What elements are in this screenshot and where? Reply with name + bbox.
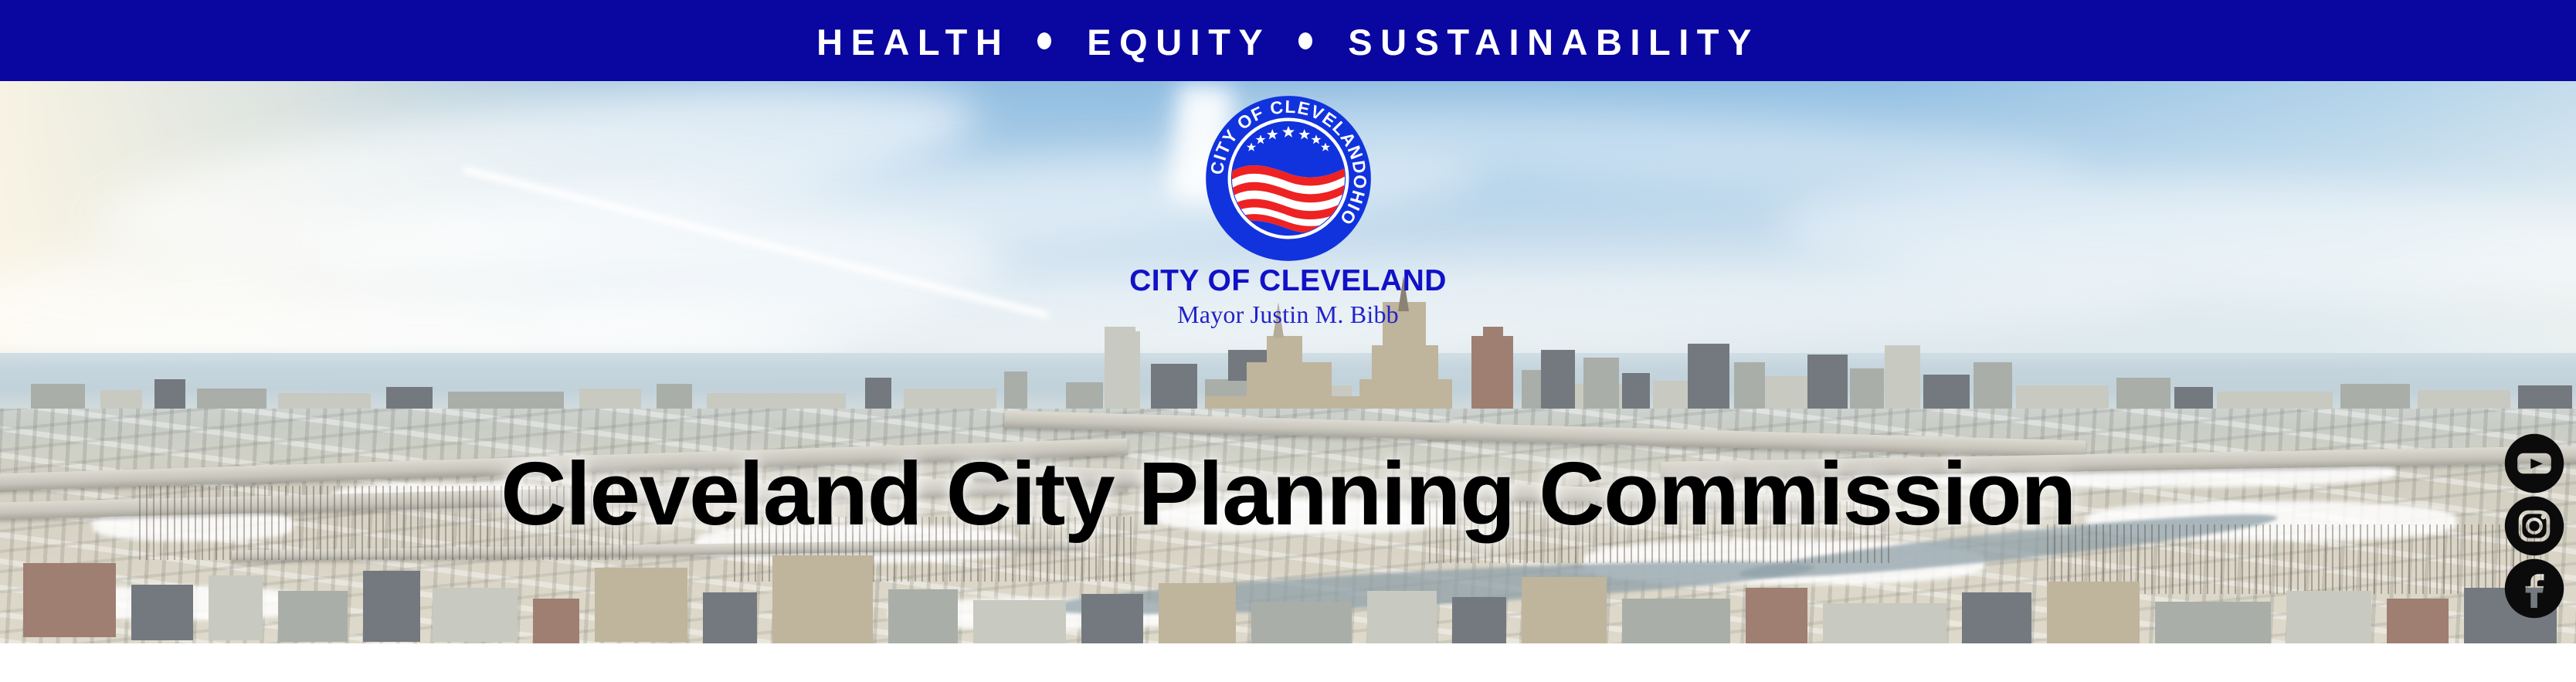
tagline-word-equity: EQUITY bbox=[1087, 22, 1271, 60]
hero-photo: CITY OF CLEVELAND OHIO bbox=[0, 81, 2576, 643]
page-title: Cleveland City Planning Commission bbox=[0, 449, 2576, 538]
tagline-text: HEALTH EQUITY SUSTAINABILITY bbox=[816, 22, 1760, 60]
bottom-whitespace bbox=[0, 643, 2576, 682]
tagline-banner: HEALTH EQUITY SUSTAINABILITY bbox=[0, 0, 2576, 81]
social-links bbox=[2504, 433, 2564, 621]
facebook-icon[interactable] bbox=[2504, 558, 2564, 619]
tagline-word-sustainability: SUSTAINABILITY bbox=[1348, 22, 1760, 60]
bullet-dot-icon bbox=[1037, 32, 1051, 49]
city-branding-block: CITY OF CLEVELAND OHIO bbox=[0, 94, 2576, 328]
page-root: HEALTH EQUITY SUSTAINABILITY bbox=[0, 0, 2576, 682]
bullet-dot-icon bbox=[1298, 32, 1312, 49]
mayor-name-label: Mayor Justin M. Bibb bbox=[0, 302, 2576, 328]
city-name-wordmark: CITY OF CLEVELAND bbox=[0, 266, 2576, 297]
city-of-cleveland-seal-icon: CITY OF CLEVELAND OHIO bbox=[1204, 94, 1373, 263]
tagline-word-health: HEALTH bbox=[816, 22, 1010, 60]
youtube-icon[interactable] bbox=[2504, 433, 2564, 494]
instagram-icon[interactable] bbox=[2504, 496, 2564, 556]
